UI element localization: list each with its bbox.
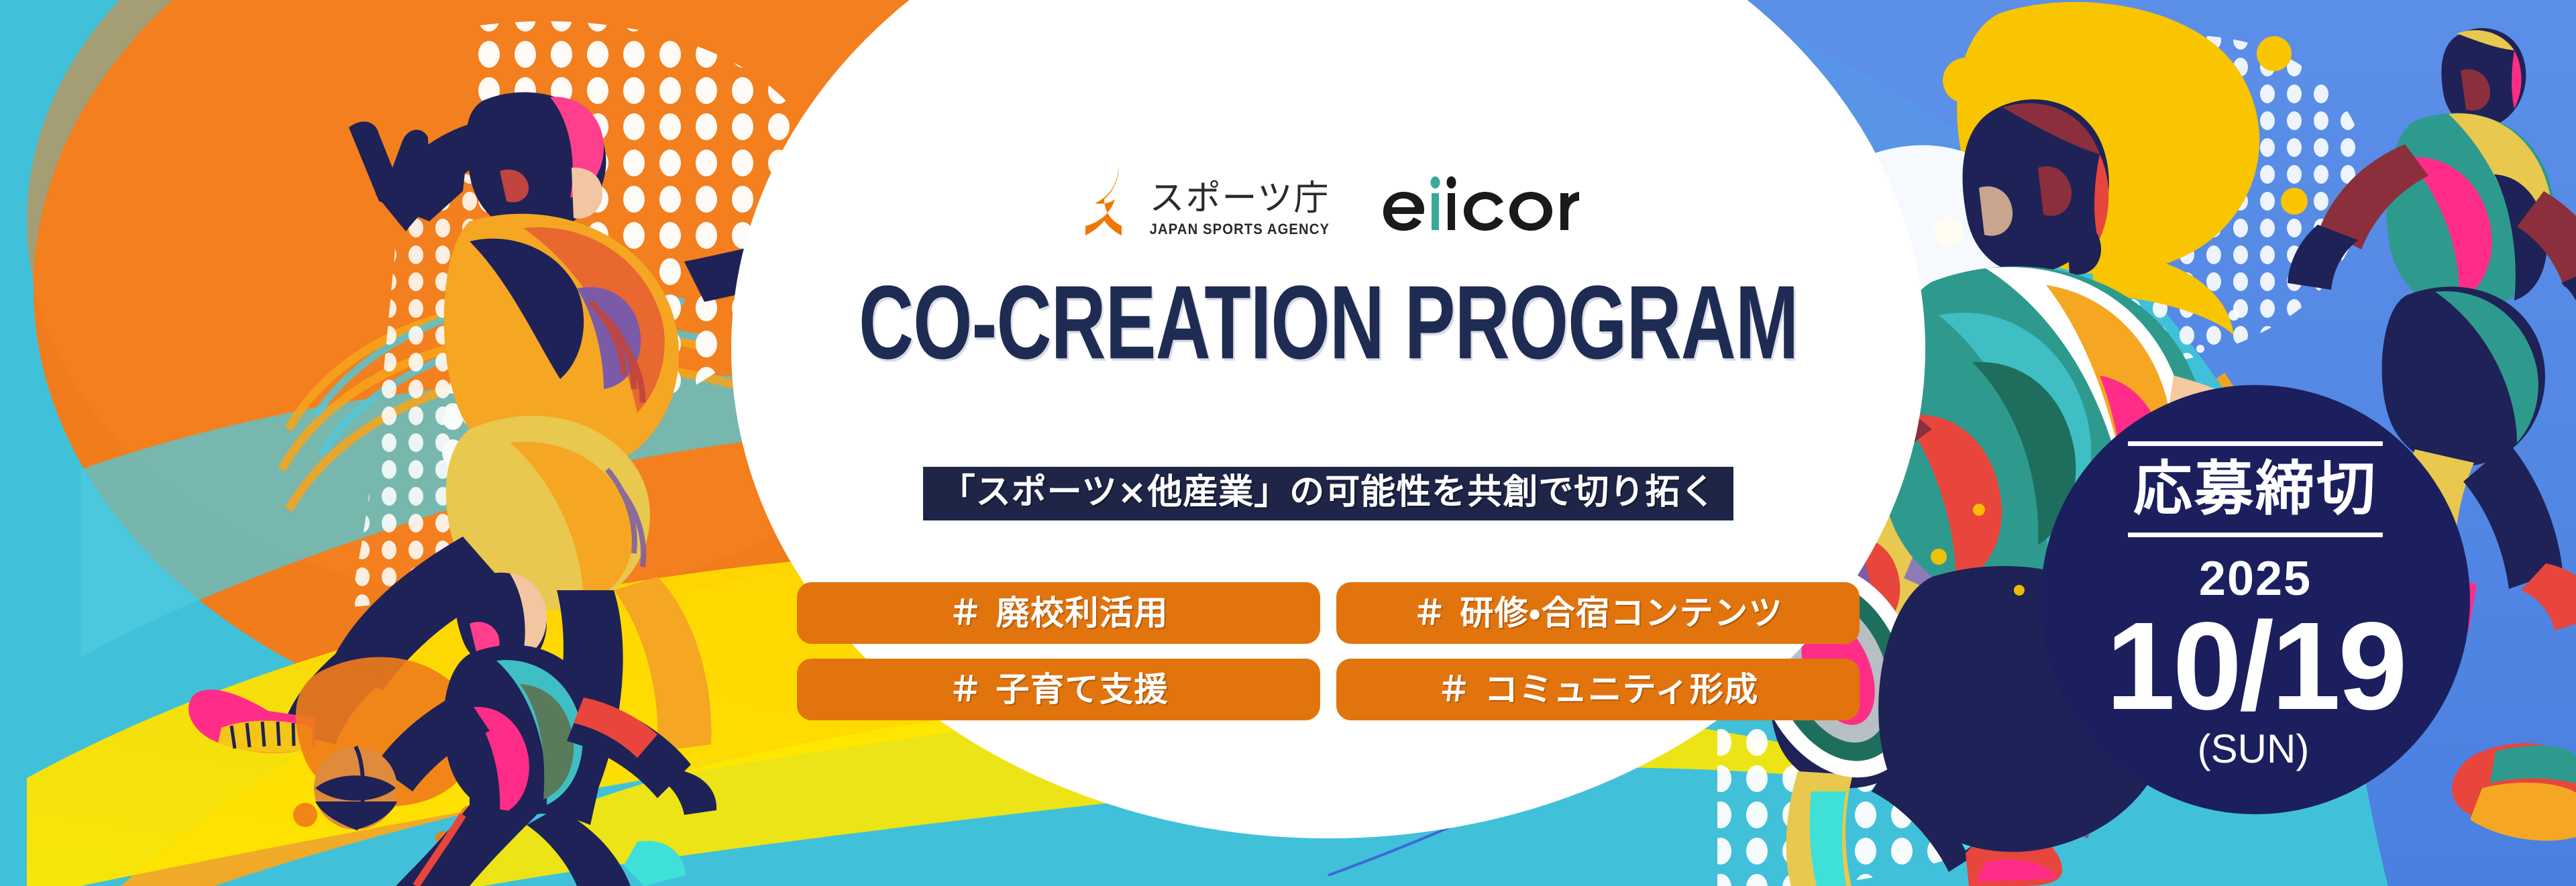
- tag-label: ＃ 研修・合宿コンテンツ: [1413, 596, 1783, 630]
- jsa-english-name: JAPAN SPORTS AGENCY: [1150, 222, 1330, 237]
- subtitle-text: 「スポーツ×他産業」の可能性を共創で切り拓く: [941, 472, 1717, 512]
- eiicon-logo: [1378, 170, 1579, 231]
- deadline-badge: 応募締切 2025 10/19 (SUN): [2041, 385, 2470, 814]
- deadline-rule-top: [2128, 441, 2383, 446]
- tag-label: ＃ 子育て支援: [949, 673, 1169, 706]
- deadline-heading: 応募締切: [2133, 457, 2377, 520]
- deadline-date-row: 10/19: [2106, 604, 2404, 729]
- jsa-text-block: スポーツ庁 JAPAN SPORTS AGENCY: [1142, 181, 1338, 237]
- deadline-year: 2025: [2199, 555, 2312, 603]
- deadline-day-of-week: (SUN): [2198, 729, 2310, 769]
- deadline-date: 10/19: [2106, 604, 2404, 729]
- tag-hashtag-1[interactable]: ＃ 研修・合宿コンテンツ: [1336, 582, 1860, 644]
- tag-grid: ＃ 廃校利活用 ＃ 研修・合宿コンテンツ ＃ 子育て支援 ＃ コミュニティ形成: [797, 582, 1860, 720]
- jsa-japanese-name: スポーツ庁: [1150, 181, 1330, 216]
- jsa-flame-mark: [1077, 164, 1130, 237]
- japan-sports-agency-logo: スポーツ庁 JAPAN SPORTS AGENCY: [1077, 164, 1338, 237]
- tag-hashtag-3[interactable]: ＃ コミュニティ形成: [1336, 659, 1860, 720]
- logo-row: スポーツ庁 JAPAN SPORTS AGENCY: [1077, 164, 1579, 237]
- page-title: CO-CREATION PROGRAM: [859, 262, 1799, 382]
- tag-label: ＃ コミュニティ形成: [1437, 673, 1758, 706]
- tag-label: ＃ 廃校利活用: [949, 596, 1169, 630]
- promotional-banner: スポーツ庁 JAPAN SPORTS AGENCY: [0, 0, 2576, 886]
- tag-hashtag-0[interactable]: ＃ 廃校利活用: [797, 582, 1320, 644]
- tag-hashtag-2[interactable]: ＃ 子育て支援: [797, 659, 1320, 720]
- subtitle-band: 「スポーツ×他産業」の可能性を共創で切り拓く: [923, 467, 1734, 520]
- deadline-rule-bottom: [2128, 533, 2383, 537]
